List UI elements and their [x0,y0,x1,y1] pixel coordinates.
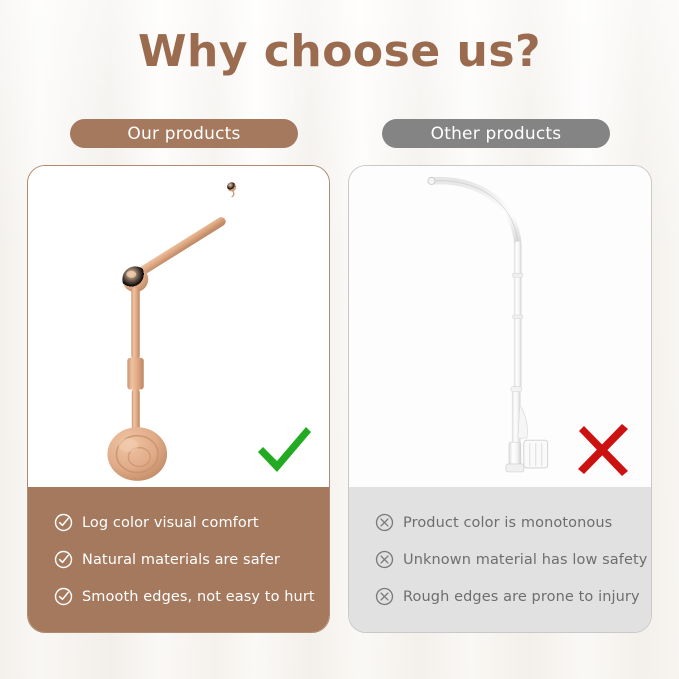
list-item-label: Unknown material has low safety [403,552,648,568]
circle-check-icon [54,550,73,569]
list-item-label: Rough edges are prone to injury [403,589,640,605]
list-item-label: Product color is monotonous [403,515,612,531]
comparison-page: Why choose us? Our products Other produc… [0,0,679,679]
list-item: Smooth edges, not easy to hurt [54,587,329,606]
circle-check-icon [54,587,73,606]
page-title: Why choose us? [0,26,679,77]
circle-x-icon [375,587,394,606]
green-check-icon [253,421,315,479]
list-item: Log color visual comfort [54,513,329,532]
badge-our-products: Our products [70,119,298,148]
list-item: Product color is monotonous [375,513,651,532]
product-photo-ours [28,166,329,487]
circle-x-icon [375,513,394,532]
list-item-label: Natural materials are safer [82,552,280,568]
badge-our-products-label: Our products [127,124,240,144]
card-other-products: Product color is monotonous Unknown mate… [348,165,652,633]
circle-check-icon [54,513,73,532]
product-photo-others [349,166,651,487]
feature-list-others: Product color is monotonous Unknown mate… [349,487,651,632]
circle-x-icon [375,550,394,569]
badge-other-products: Other products [382,119,610,148]
list-item-label: Log color visual comfort [82,515,259,531]
list-item: Unknown material has low safety [375,550,651,569]
list-item: Rough edges are prone to injury [375,587,651,606]
card-our-products: Log color visual comfort Natural materia… [27,165,330,633]
red-cross-icon [575,421,637,479]
list-item-label: Smooth edges, not easy to hurt [82,589,315,605]
feature-list-ours: Log color visual comfort Natural materia… [28,487,329,632]
list-item: Natural materials are safer [54,550,329,569]
badge-other-products-label: Other products [431,124,562,144]
